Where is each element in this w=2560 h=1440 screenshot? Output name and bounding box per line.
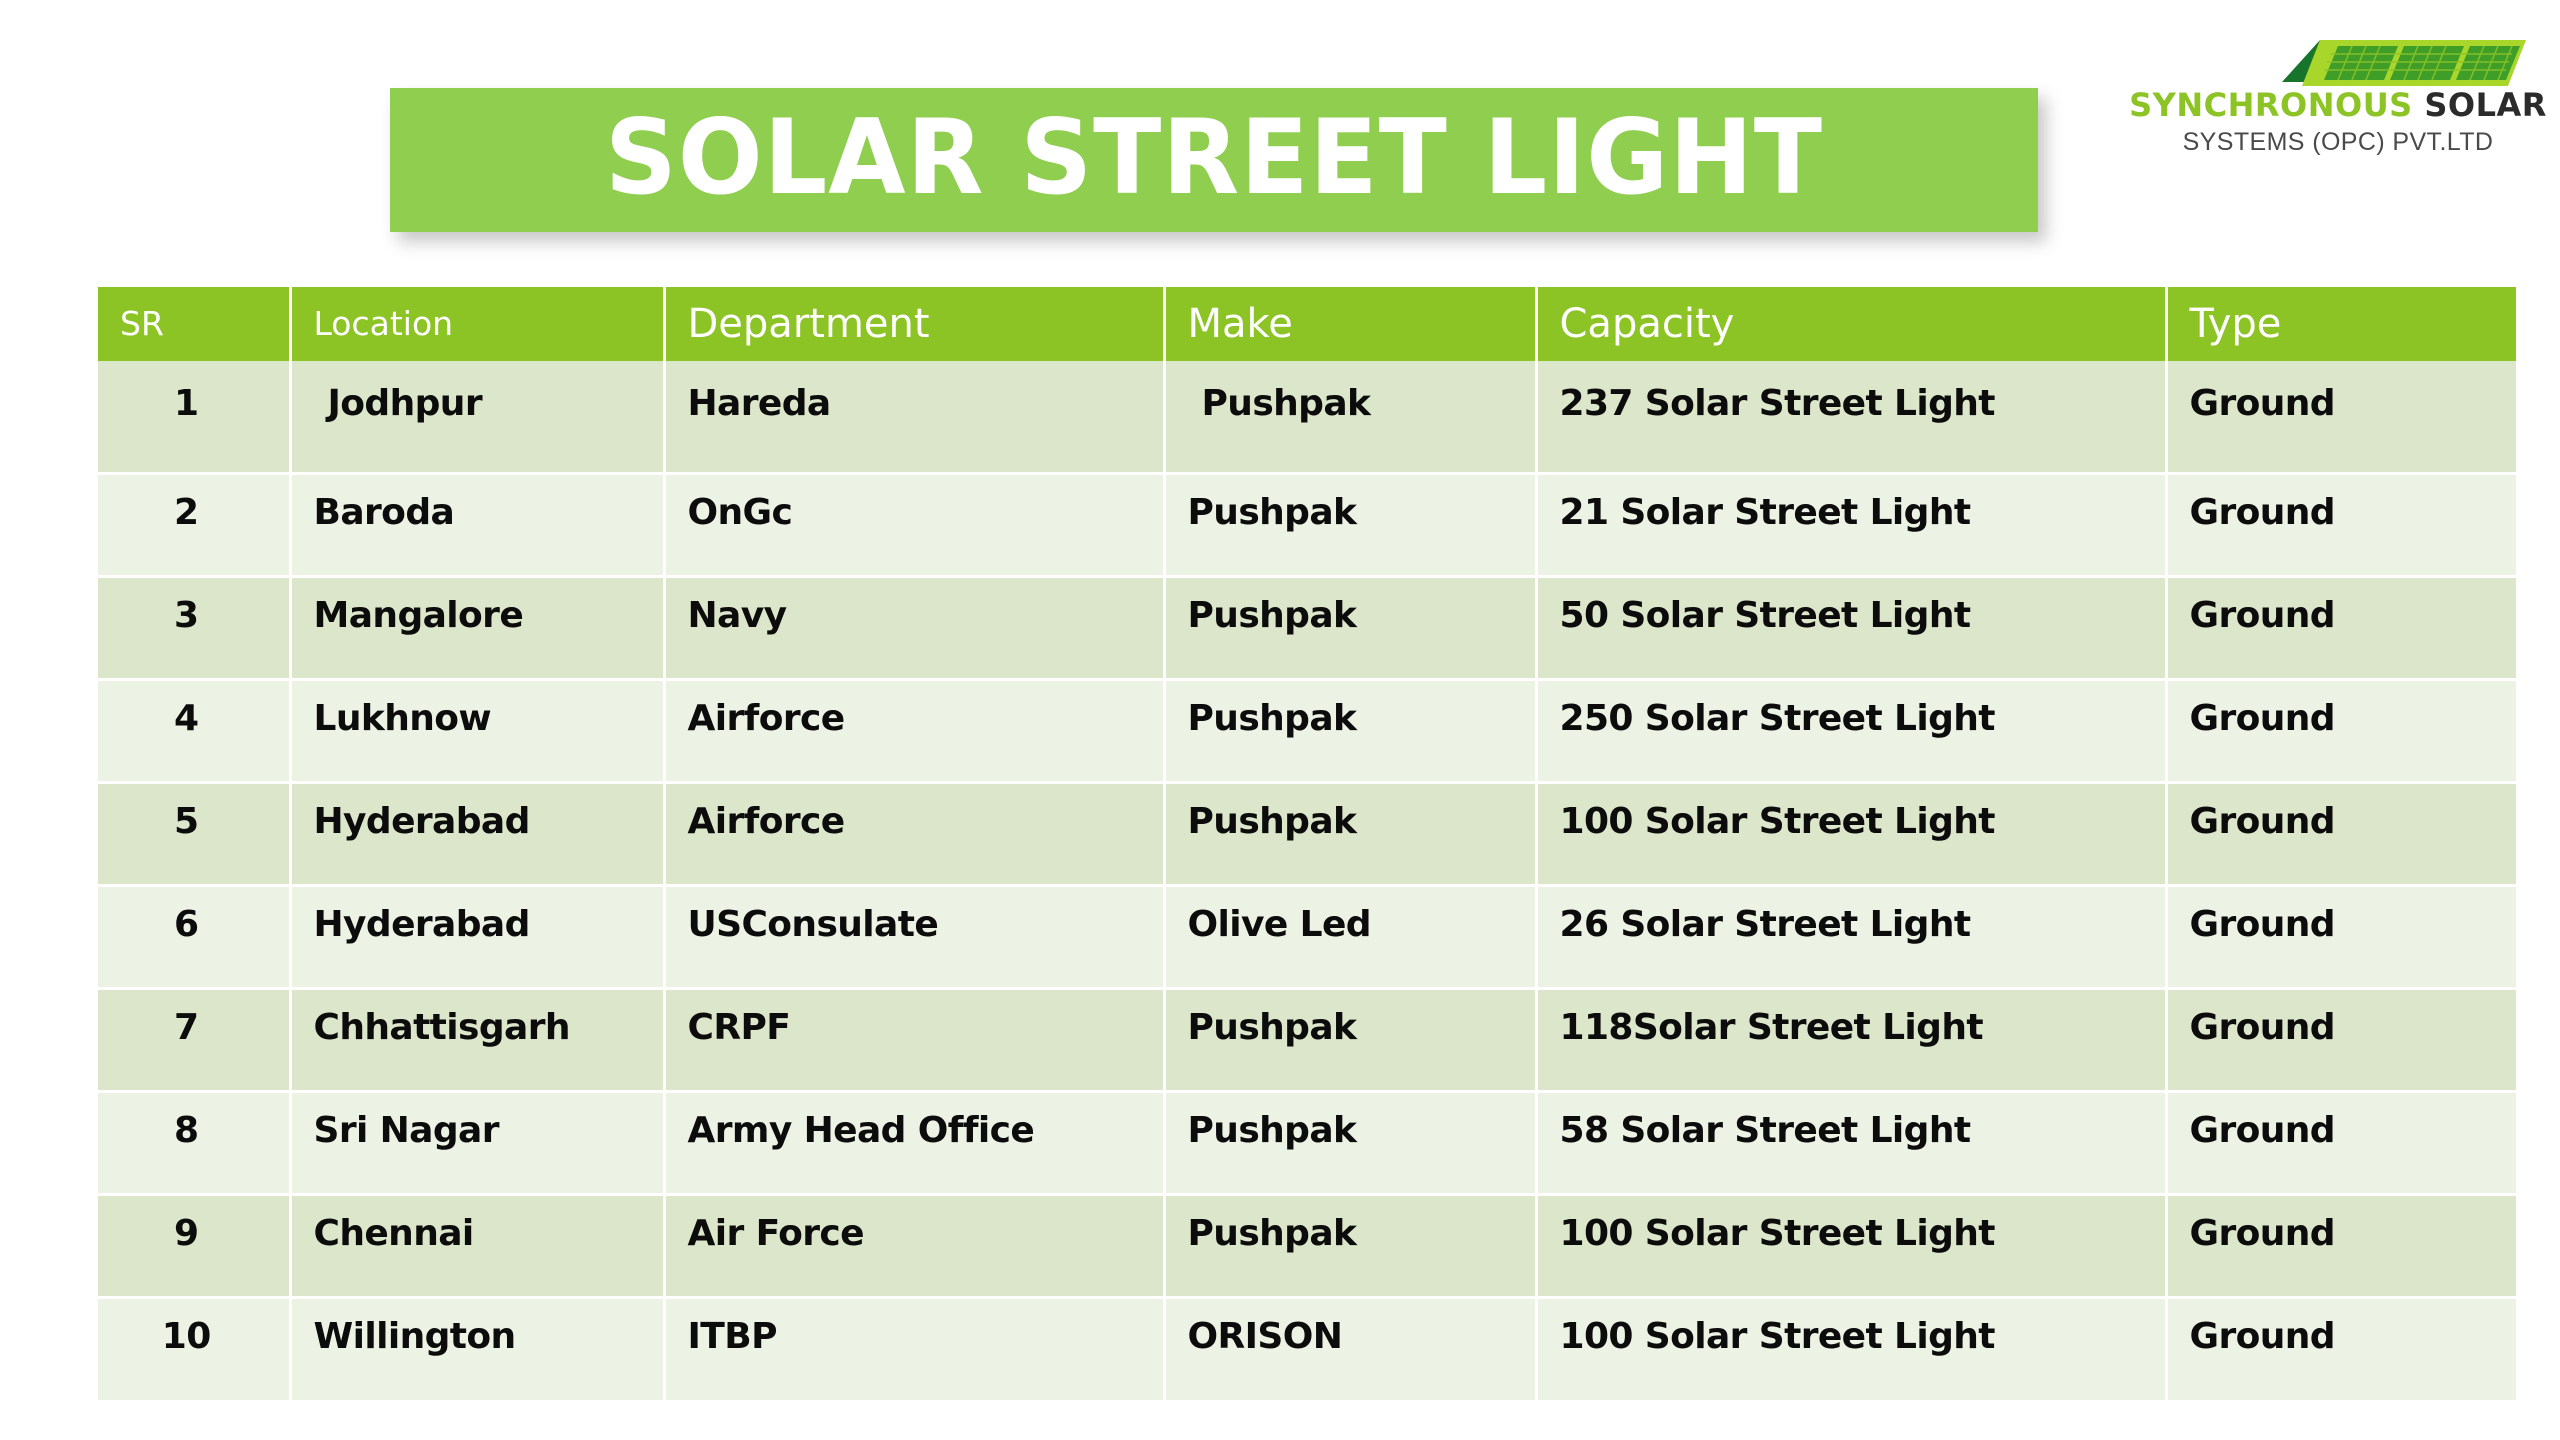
cell-type: Ground xyxy=(2166,576,2516,679)
table-row[interactable]: 9ChennaiAir ForcePushpak100 Solar Street… xyxy=(98,1194,2516,1297)
column-header-location[interactable]: Location xyxy=(290,287,664,361)
cell-sr: 4 xyxy=(98,679,290,782)
cell-sr: 8 xyxy=(98,1091,290,1194)
cell-type: Ground xyxy=(2166,1297,2516,1400)
cell-make: Pushpak xyxy=(1164,473,1536,576)
logo-brand-secondary: SOLAR xyxy=(2424,86,2547,124)
title-banner: SOLAR STREET LIGHT xyxy=(390,88,2038,232)
cell-sr: 10 xyxy=(98,1297,290,1400)
cell-location: Baroda xyxy=(290,473,664,576)
company-logo: SYNCHRONOUS SOLAR SYSTEMS (OPC) PVT.LTD xyxy=(2128,30,2548,170)
table-row[interactable]: 1JodhpurHaredaPushpak237 Solar Street Li… xyxy=(98,361,2516,473)
cell-department: Airforce xyxy=(664,679,1164,782)
cell-sr: 5 xyxy=(98,782,290,885)
cell-location: Hyderabad xyxy=(290,782,664,885)
cell-department: Airforce xyxy=(664,782,1164,885)
slide-canvas: SOLAR STREET LIGHT xyxy=(0,0,2560,1440)
cell-sr: 3 xyxy=(98,576,290,679)
cell-department: Hareda xyxy=(664,361,1164,473)
cell-make: Pushpak xyxy=(1164,361,1536,473)
column-header-sr[interactable]: SR xyxy=(98,287,290,361)
table-body: 1JodhpurHaredaPushpak237 Solar Street Li… xyxy=(98,361,2516,1400)
cell-make: Pushpak xyxy=(1164,576,1536,679)
cell-capacity: 118Solar Street Light xyxy=(1536,988,2166,1091)
cell-department: CRPF xyxy=(664,988,1164,1091)
cell-make: Pushpak xyxy=(1164,782,1536,885)
cell-location: Chhattisgarh xyxy=(290,988,664,1091)
cell-sr: 1 xyxy=(98,361,290,473)
solar-street-light-table: SR Location Department Make Capacity Typ… xyxy=(98,287,2516,1390)
table-row[interactable]: 3MangaloreNavyPushpak50 Solar Street Lig… xyxy=(98,576,2516,679)
cell-make: Pushpak xyxy=(1164,988,1536,1091)
solar-panel-icon xyxy=(2280,30,2528,88)
cell-type: Ground xyxy=(2166,885,2516,988)
table-row[interactable]: 4LukhnowAirforcePushpak250 Solar Street … xyxy=(98,679,2516,782)
cell-capacity: 50 Solar Street Light xyxy=(1536,576,2166,679)
cell-make: Pushpak xyxy=(1164,679,1536,782)
cell-location: Chennai xyxy=(290,1194,664,1297)
page-title: SOLAR STREET LIGHT xyxy=(605,107,1823,210)
column-header-type[interactable]: Type xyxy=(2166,287,2516,361)
cell-type: Ground xyxy=(2166,1194,2516,1297)
cell-department: USConsulate xyxy=(664,885,1164,988)
cell-type: Ground xyxy=(2166,361,2516,473)
table-row[interactable]: 6HyderabadUSConsulateOlive Led26 Solar S… xyxy=(98,885,2516,988)
cell-sr: 7 xyxy=(98,988,290,1091)
cell-capacity: 100 Solar Street Light xyxy=(1536,782,2166,885)
cell-type: Ground xyxy=(2166,473,2516,576)
cell-make: ORISON xyxy=(1164,1297,1536,1400)
cell-location: Willington xyxy=(290,1297,664,1400)
cell-department: Navy xyxy=(664,576,1164,679)
cell-location: Mangalore xyxy=(290,576,664,679)
cell-location: Jodhpur xyxy=(290,361,664,473)
cell-department: Army Head Office xyxy=(664,1091,1164,1194)
cell-location: Hyderabad xyxy=(290,885,664,988)
logo-wordmark: SYNCHRONOUS SOLAR xyxy=(2128,86,2548,124)
cell-location: Lukhnow xyxy=(290,679,664,782)
cell-sr: 2 xyxy=(98,473,290,576)
cell-sr: 6 xyxy=(98,885,290,988)
cell-capacity: 26 Solar Street Light xyxy=(1536,885,2166,988)
column-header-capacity[interactable]: Capacity xyxy=(1536,287,2166,361)
table-row[interactable]: 10WillingtonITBPORISON100 Solar Street L… xyxy=(98,1297,2516,1400)
column-header-department[interactable]: Department xyxy=(664,287,1164,361)
cell-department: ITBP xyxy=(664,1297,1164,1400)
table-row[interactable]: 8Sri NagarArmy Head OfficePushpak58 Sola… xyxy=(98,1091,2516,1194)
table-row[interactable]: 5HyderabadAirforcePushpak100 Solar Stree… xyxy=(98,782,2516,885)
cell-capacity: 100 Solar Street Light xyxy=(1536,1297,2166,1400)
data-table: SR Location Department Make Capacity Typ… xyxy=(98,287,2516,1400)
cell-capacity: 21 Solar Street Light xyxy=(1536,473,2166,576)
table-row[interactable]: 2BarodaOnGcPushpak21 Solar Street LightG… xyxy=(98,473,2516,576)
cell-sr: 9 xyxy=(98,1194,290,1297)
cell-make: Olive Led xyxy=(1164,885,1536,988)
cell-type: Ground xyxy=(2166,782,2516,885)
cell-type: Ground xyxy=(2166,679,2516,782)
cell-location: Sri Nagar xyxy=(290,1091,664,1194)
column-header-make[interactable]: Make xyxy=(1164,287,1536,361)
cell-capacity: 250 Solar Street Light xyxy=(1536,679,2166,782)
logo-brand-primary: SYNCHRONOUS xyxy=(2129,86,2413,124)
cell-department: OnGc xyxy=(664,473,1164,576)
cell-capacity: 100 Solar Street Light xyxy=(1536,1194,2166,1297)
cell-capacity: 237 Solar Street Light xyxy=(1536,361,2166,473)
table-row[interactable]: 7ChhattisgarhCRPFPushpak118Solar Street … xyxy=(98,988,2516,1091)
cell-type: Ground xyxy=(2166,1091,2516,1194)
cell-make: Pushpak xyxy=(1164,1091,1536,1194)
logo-subline: SYSTEMS (OPC) PVT.LTD xyxy=(2128,128,2548,157)
cell-department: Air Force xyxy=(664,1194,1164,1297)
cell-make: Pushpak xyxy=(1164,1194,1536,1297)
table-header-row: SR Location Department Make Capacity Typ… xyxy=(98,287,2516,361)
cell-type: Ground xyxy=(2166,988,2516,1091)
cell-capacity: 58 Solar Street Light xyxy=(1536,1091,2166,1194)
table-header: SR Location Department Make Capacity Typ… xyxy=(98,287,2516,361)
